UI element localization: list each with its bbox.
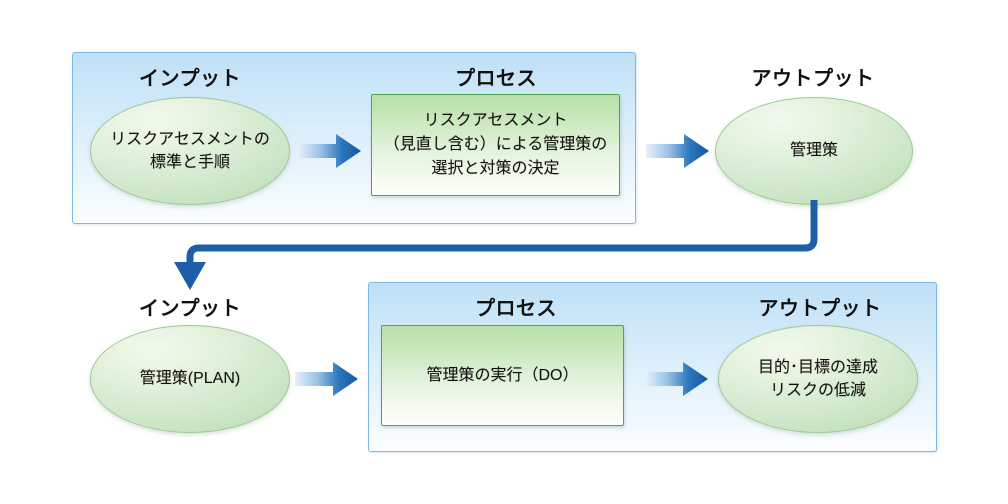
row-2-output-line-1: 目的･目標の達成: [758, 356, 878, 379]
row-1-process-line-3: 選択と対策の決定: [384, 157, 608, 181]
row-2-output-ellipse[interactable]: 目的･目標の達成 リスクの低減: [718, 325, 918, 433]
row-1-input-to-process-arrow: [298, 132, 362, 170]
row-1-process-label: プロセス: [455, 62, 537, 91]
row-1-input-line-2: 標準と手順: [110, 151, 270, 174]
row-1-process-text: リスクアセスメント （見直し含む）による管理策の 選択と対策の決定: [384, 109, 608, 181]
row-2-process-box[interactable]: 管理策の実行（DO）: [381, 325, 624, 426]
row-1-process-line-2: （見直し含む）による管理策の: [384, 133, 608, 157]
row-2-process-label: プロセス: [475, 292, 557, 321]
row-2-process-line-1: 管理策の実行（DO）: [426, 364, 578, 388]
row-2-process-to-output-arrow: [645, 360, 709, 398]
row-2-output-line-2: リスクの低減: [758, 379, 878, 402]
row-2-output-ellipse-text: 目的･目標の達成 リスクの低減: [758, 356, 878, 402]
row-2-process-text: 管理策の実行（DO）: [426, 364, 578, 388]
row-1-input-line-1: リスクアセスメントの: [110, 128, 270, 151]
row-1-output-ellipse[interactable]: 管理策: [715, 97, 913, 205]
row-1-input-label: インプット: [139, 62, 241, 91]
diagram-canvas: インプット プロセス アウトプット リスクアセスメントの 標準と手順 リスクアセ…: [0, 0, 1008, 504]
row-2-output-label: アウトプット: [759, 292, 882, 321]
row-2-input-to-process-arrow: [295, 360, 359, 398]
row-1-input-ellipse[interactable]: リスクアセスメントの 標準と手順: [90, 97, 290, 205]
row-2-input-line-1: 管理策(PLAN): [140, 367, 240, 390]
row-1-process-box[interactable]: リスクアセスメント （見直し含む）による管理策の 選択と対策の決定: [371, 94, 620, 196]
row-2-input-ellipse-text: 管理策(PLAN): [140, 367, 240, 390]
row-1-process-line-1: リスクアセスメント: [384, 109, 608, 133]
row-1-output-ellipse-text: 管理策: [790, 139, 838, 162]
row-1-output-line-1: 管理策: [790, 139, 838, 162]
row-1-input-ellipse-text: リスクアセスメントの 標準と手順: [110, 128, 270, 174]
row-2-input-label: インプット: [139, 292, 241, 321]
row-1-process-to-output-arrow: [646, 132, 710, 170]
row-2-input-ellipse[interactable]: 管理策(PLAN): [90, 325, 290, 433]
row-1-output-label: アウトプット: [752, 62, 875, 91]
